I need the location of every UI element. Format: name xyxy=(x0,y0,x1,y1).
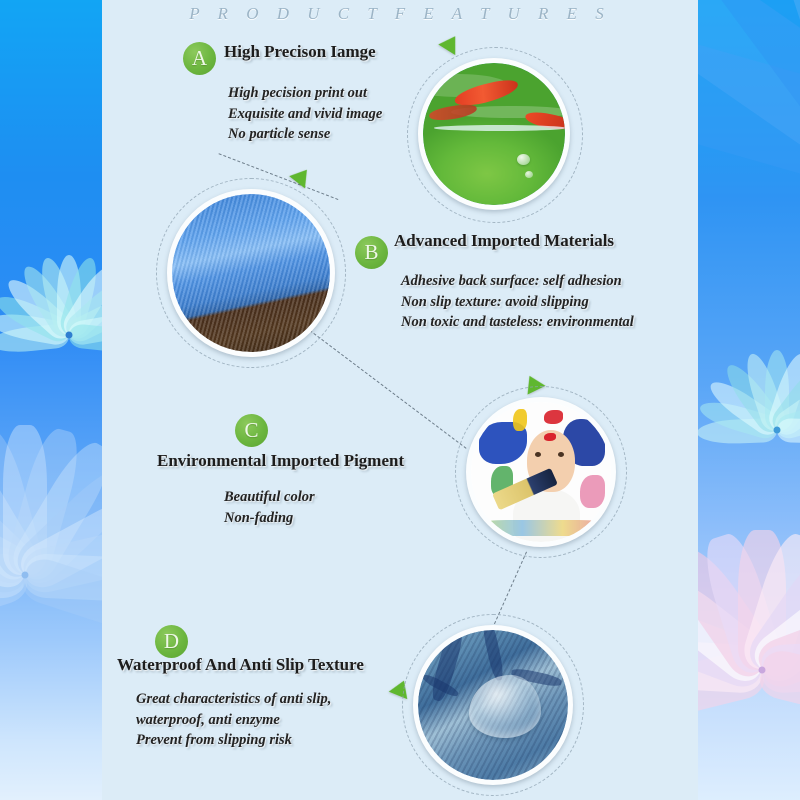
badge-letter-c: C xyxy=(235,414,268,447)
bullets-section-b: Adhesive back surface: self adhesion Non… xyxy=(401,271,634,333)
paint-floor-streak xyxy=(482,520,602,537)
water-droplet-small xyxy=(525,171,533,178)
badge-letter-d: D xyxy=(155,625,188,658)
koi-pond-image xyxy=(423,63,565,205)
right-decorative-border xyxy=(682,0,800,800)
left-decorative-border xyxy=(0,0,118,800)
left-border-inner-gap xyxy=(102,0,118,800)
flower-center xyxy=(66,332,73,339)
heading-section-a: High Precison Iamge xyxy=(224,42,376,62)
badge-letter-b: B xyxy=(355,236,388,269)
paint-splatter-pink xyxy=(580,475,605,509)
bullets-section-d: Great characteristics of anti slip, wate… xyxy=(136,689,331,751)
heading-section-d: Waterproof And Anti Slip Texture xyxy=(117,655,364,675)
heading-section-c: Environmental Imported Pigment xyxy=(157,451,404,471)
photo-d-water-droplet xyxy=(413,625,573,785)
right-flower-fan-pink xyxy=(682,500,800,800)
water-droplet-image xyxy=(418,630,568,780)
droplet-blob xyxy=(469,675,541,738)
paint-splatter-red xyxy=(544,410,564,424)
blue-fabric-image xyxy=(172,194,330,352)
paint-splatter-yellow xyxy=(513,409,527,431)
flower-center xyxy=(22,572,29,579)
photo-c-baby-painting xyxy=(466,397,616,547)
left-flower-fan-lower xyxy=(0,395,118,755)
baby-painting-image xyxy=(471,402,611,542)
infographic-canvas: P R O D U C T F E A T U R E S xyxy=(0,0,800,800)
photo-a-koi-fish-lotus xyxy=(418,58,570,210)
page-title: P R O D U C T F E A T U R E S xyxy=(0,4,800,24)
badge-letter-a: A xyxy=(183,42,216,75)
photo-b-blue-fabric xyxy=(167,189,335,357)
flower-center xyxy=(759,667,766,674)
water-droplet-large xyxy=(517,154,530,165)
heading-section-b: Advanced Imported Materials xyxy=(394,231,614,251)
koi-fish-2 xyxy=(428,102,478,121)
flower-center xyxy=(774,427,781,434)
bullets-section-c: Beautiful color Non-fading xyxy=(224,487,315,528)
texture-streak-2 xyxy=(481,630,506,682)
bullets-section-a: High pecision print out Exquisite and vi… xyxy=(228,83,382,145)
right-border-inner-gap xyxy=(682,0,698,800)
